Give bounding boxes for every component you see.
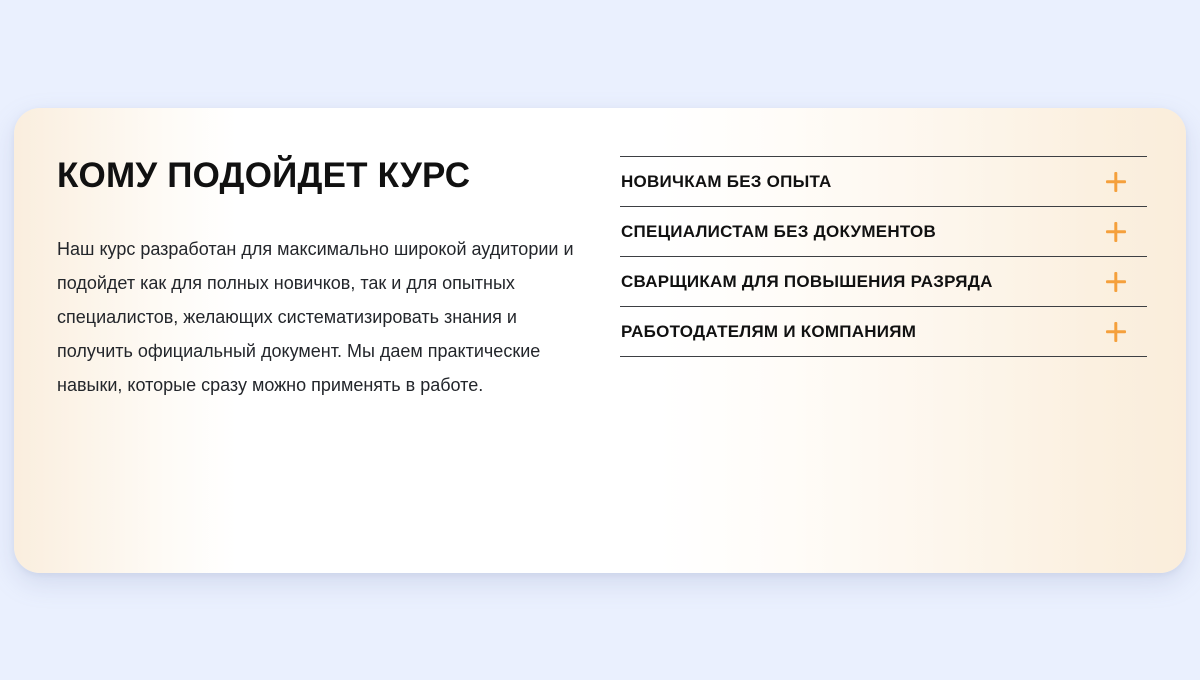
page-root: КОМУ ПОДОЙДЕТ КУРС Наш курс разработан д… — [0, 0, 1200, 680]
plus-icon[interactable] — [1105, 321, 1127, 343]
audience-accordion: НОВИЧКАМ БЕЗ ОПЫТА СПЕЦИАЛИСТАМ БЕЗ ДОКУ… — [620, 156, 1147, 357]
accordion-item-employers[interactable]: РАБОТОДАТЕЛЯМ И КОМПАНИЯМ — [620, 307, 1147, 357]
plus-icon[interactable] — [1105, 271, 1127, 293]
accordion-item-specialists[interactable]: СПЕЦИАЛИСТАМ БЕЗ ДОКУМЕНТОВ — [620, 207, 1147, 257]
page-title: КОМУ ПОДОЙДЕТ КУРС — [57, 156, 587, 195]
audience-card: КОМУ ПОДОЙДЕТ КУРС Наш курс разработан д… — [14, 108, 1186, 573]
plus-icon[interactable] — [1105, 221, 1127, 243]
card-inner: КОМУ ПОДОЙДЕТ КУРС Наш курс разработан д… — [14, 108, 1186, 573]
accordion-item-label: РАБОТОДАТЕЛЯМ И КОМПАНИЯМ — [621, 322, 916, 342]
section-description: Наш курс разработан для максимально широ… — [57, 232, 577, 402]
accordion-item-welders[interactable]: СВАРЩИКАМ ДЛЯ ПОВЫШЕНИЯ РАЗРЯДА — [620, 257, 1147, 307]
accordion-item-label: СВАРЩИКАМ ДЛЯ ПОВЫШЕНИЯ РАЗРЯДА — [621, 272, 993, 292]
accordion-item-label: НОВИЧКАМ БЕЗ ОПЫТА — [621, 172, 832, 192]
intro-column: КОМУ ПОДОЙДЕТ КУРС Наш курс разработан д… — [57, 156, 587, 402]
accordion-item-beginners[interactable]: НОВИЧКАМ БЕЗ ОПЫТА — [620, 157, 1147, 207]
accordion-item-label: СПЕЦИАЛИСТАМ БЕЗ ДОКУМЕНТОВ — [621, 222, 936, 242]
plus-icon[interactable] — [1105, 171, 1127, 193]
